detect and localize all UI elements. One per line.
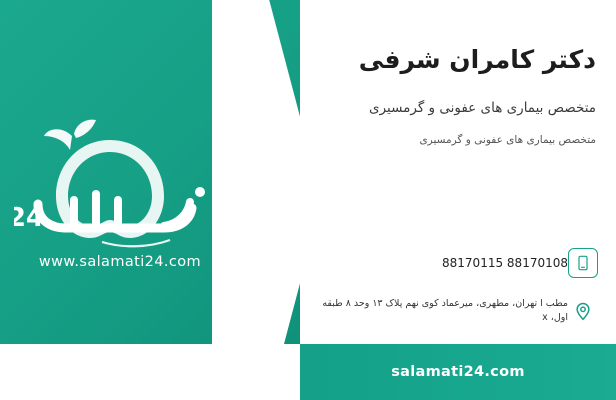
footer-website: salamati24.com (391, 364, 525, 380)
contact-row-phone: 88170108 88170115 (306, 248, 598, 278)
contact-list: 88170108 88170115 مطب ا تهران، مطهری، می… (306, 248, 598, 344)
doctor-specialty-secondary: متخصص بیماری های عفونی و گرمسیری (310, 134, 596, 146)
footer-bar: salamati24.com (300, 344, 616, 400)
contact-row-address: مطب ا تهران، مطهری، میرعماد کوی نهم پلاک… (306, 296, 598, 326)
brand-logo: 24 www.salamati24.com (14, 108, 224, 268)
business-card: 24 www.salamati24.com دکتر کامران شرفی م… (0, 0, 616, 400)
doctor-specialty: متخصص بیماری های عفونی و گرمسیری (310, 100, 596, 116)
logo-number-24: 24 (14, 203, 44, 233)
location-pin-icon (568, 296, 598, 326)
salamati24-logo-icon: 24 (14, 108, 224, 258)
info-panel: دکتر کامران شرفی متخصص بیماری های عفونی … (300, 0, 616, 400)
address-text: مطب ا تهران، مطهری، میرعماد کوی نهم پلاک… (306, 297, 568, 326)
phone-icon (568, 248, 598, 278)
phone-number: 88170108 88170115 (306, 256, 568, 270)
doctor-name: دکتر کامران شرفی (310, 44, 596, 77)
brand-website-label: www.salamati24.com (20, 254, 220, 270)
footer-white-spacer (0, 344, 302, 400)
